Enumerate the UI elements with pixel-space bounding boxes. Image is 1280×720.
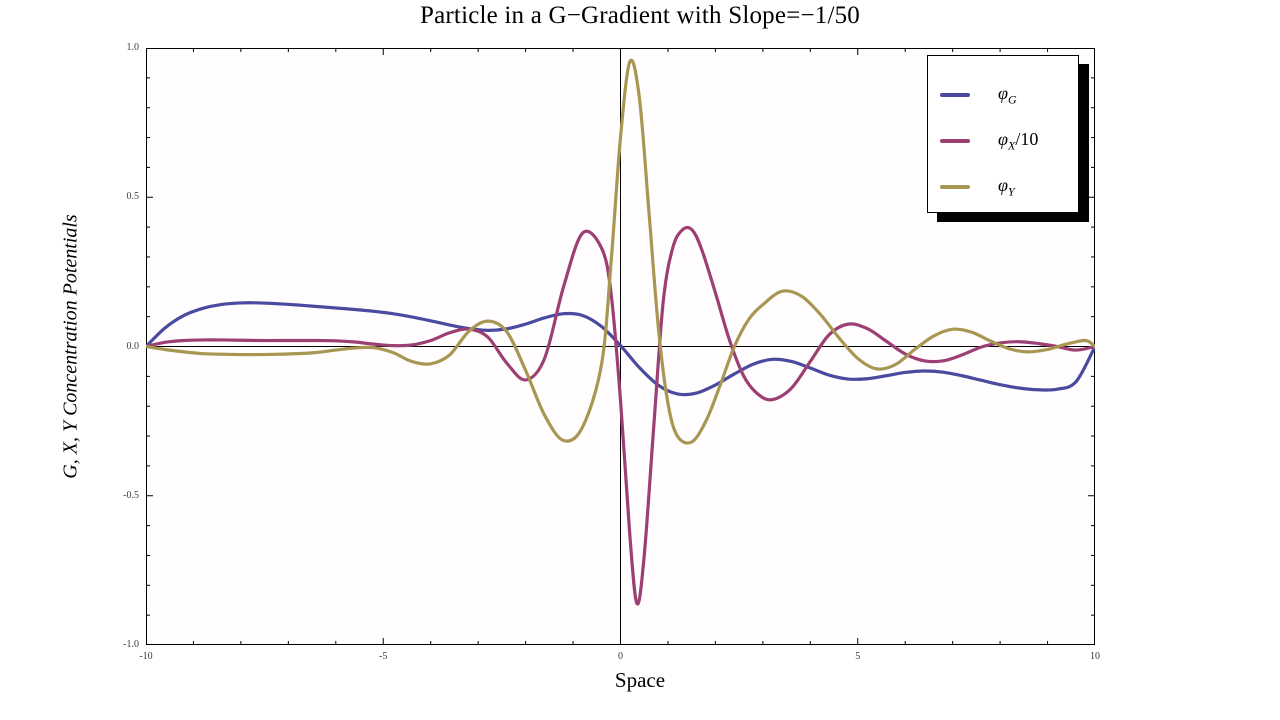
y-axis-label-container: G, X, Y Concentration Potentials [56,48,86,645]
y-tick-label: 1.0 [106,42,139,53]
legend-box[interactable]: φGφX/10φY [927,55,1079,213]
legend-item[interactable]: φY [928,164,1078,210]
y-tick-label: -0.5 [106,490,139,501]
legend-item[interactable]: φG [928,72,1078,118]
chart-title: Particle in a G−Gradient with Slope=−1/5… [0,2,1280,30]
y-tick-label: -1.0 [106,639,139,650]
legend-swatch-icon [940,139,970,143]
y-axis-label: G, X, Y Concentration Potentials [60,214,83,478]
x-tick-label: -10 [126,651,166,662]
legend-swatch-icon [940,93,970,97]
legend-swatch-icon [940,185,970,189]
legend-label: φY [998,175,1015,200]
y-tick-label: 0.5 [106,191,139,202]
legend-label: φX/10 [998,129,1038,154]
x-tick-label: 10 [1075,651,1115,662]
legend-label: φG [998,83,1017,108]
x-tick-label: -5 [363,651,403,662]
x-tick-label: 0 [601,651,641,662]
chart-canvas: Particle in a G−Gradient with Slope=−1/5… [0,0,1280,720]
y-tick-label: 0.0 [106,341,139,352]
x-tick-label: 5 [838,651,878,662]
legend-item[interactable]: φX/10 [928,118,1078,164]
x-axis-label: Space [0,668,1280,693]
